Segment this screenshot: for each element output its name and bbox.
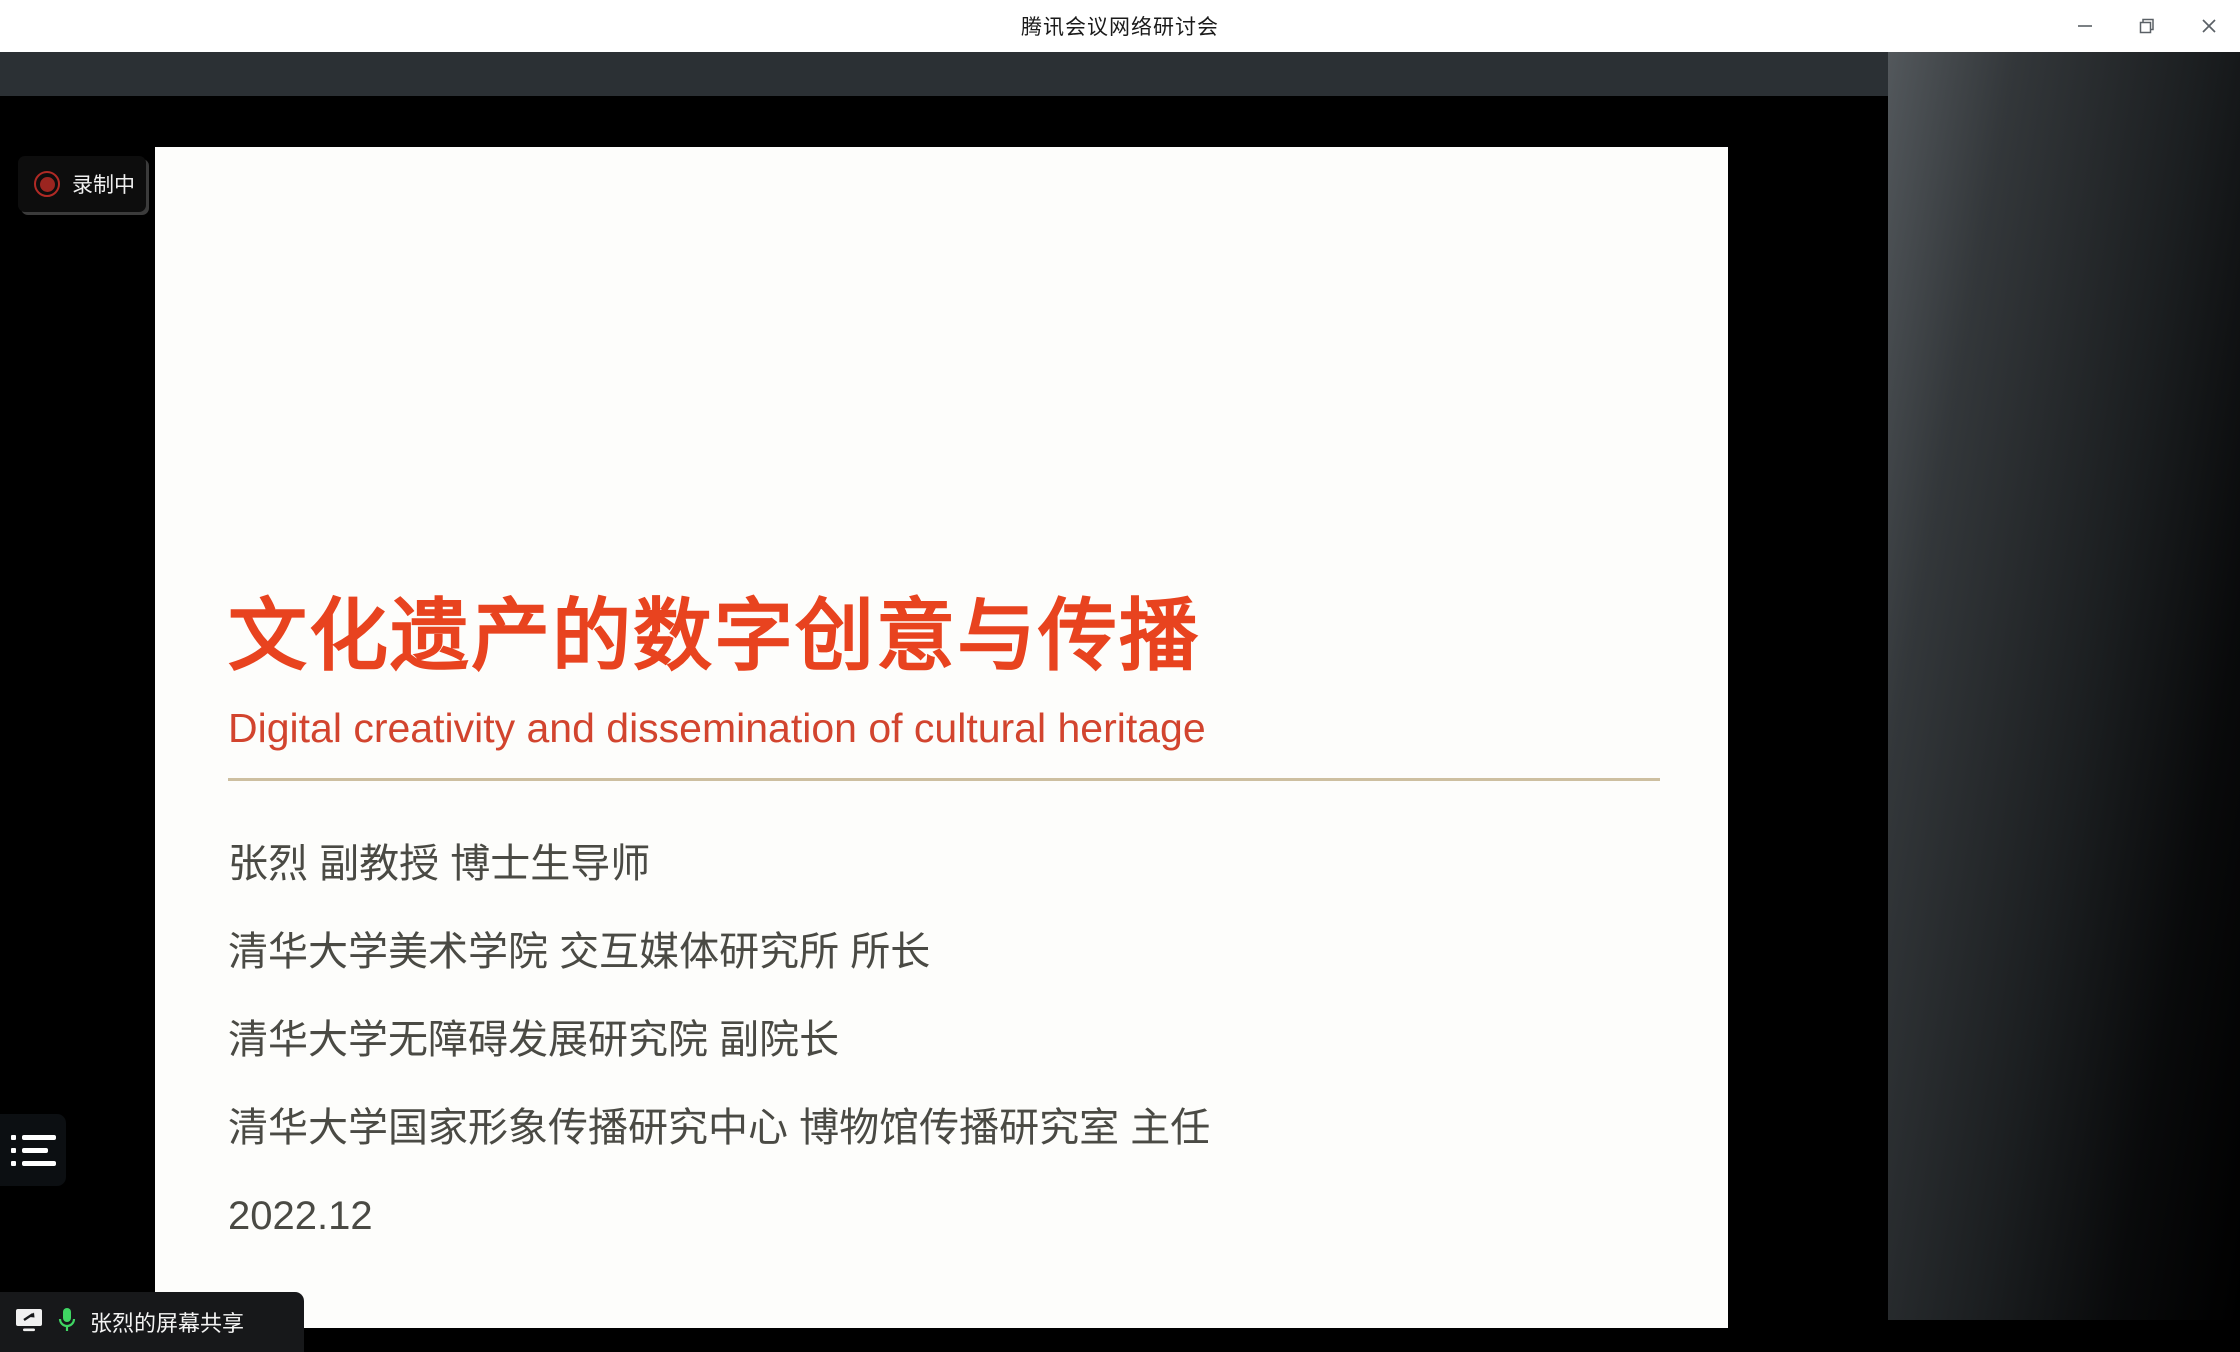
presentation-slide: 文化遗产的数字创意与传播 Digital creativity and diss… [155,147,1728,1328]
slide-title: 文化遗产的数字创意与传播 [228,596,1478,675]
mic-active-icon [56,1306,78,1339]
window-title-bar: 腾讯会议网络研讨会 [0,0,2240,52]
slide-body: 张烈 副教授 博士生导师 清华大学美术学院 交互媒体研究所 所长 清华大学无障碍… [228,844,1628,1284]
slide-line: 清华大学国家形象传播研究中心 博物馆传播研究室 主任 [228,1108,1628,1148]
shared-screen-stage: 文化遗产的数字创意与传播 Digital creativity and diss… [0,96,1888,1320]
close-button[interactable] [2178,0,2240,52]
slide-line: 张烈 副教授 博士生导师 [228,844,1628,884]
participant-sidebar: 正在讲话: 张烈; [1888,52,2240,1320]
minimize-button[interactable] [2054,0,2116,52]
restore-button[interactable] [2116,0,2178,52]
stage-top-strip [0,52,1888,96]
recording-label: 录制中 [72,169,135,199]
slide-subtitle: Digital creativity and dissemination of … [228,708,1528,749]
slide-line: 清华大学美术学院 交互媒体研究所 所长 [228,932,1628,972]
meeting-window: 文化遗产的数字创意与传播 Digital creativity and diss… [0,52,2240,1320]
list-outline-icon[interactable] [0,1114,66,1186]
slide-line: 清华大学无障碍发展研究院 副院长 [228,1020,1628,1060]
screen-share-bar: 张烈的屏幕共享 [0,1292,304,1352]
slide-line: 2022.12 [228,1196,1628,1236]
screen-share-icon [14,1307,44,1338]
slide-divider [228,778,1660,781]
window-controls [2054,0,2240,52]
recording-badge[interactable]: 录制中 [18,156,146,212]
window-title: 腾讯会议网络研讨会 [1021,11,1219,41]
record-dot-icon [34,171,60,197]
screen-share-label: 张烈的屏幕共享 [90,1306,244,1338]
